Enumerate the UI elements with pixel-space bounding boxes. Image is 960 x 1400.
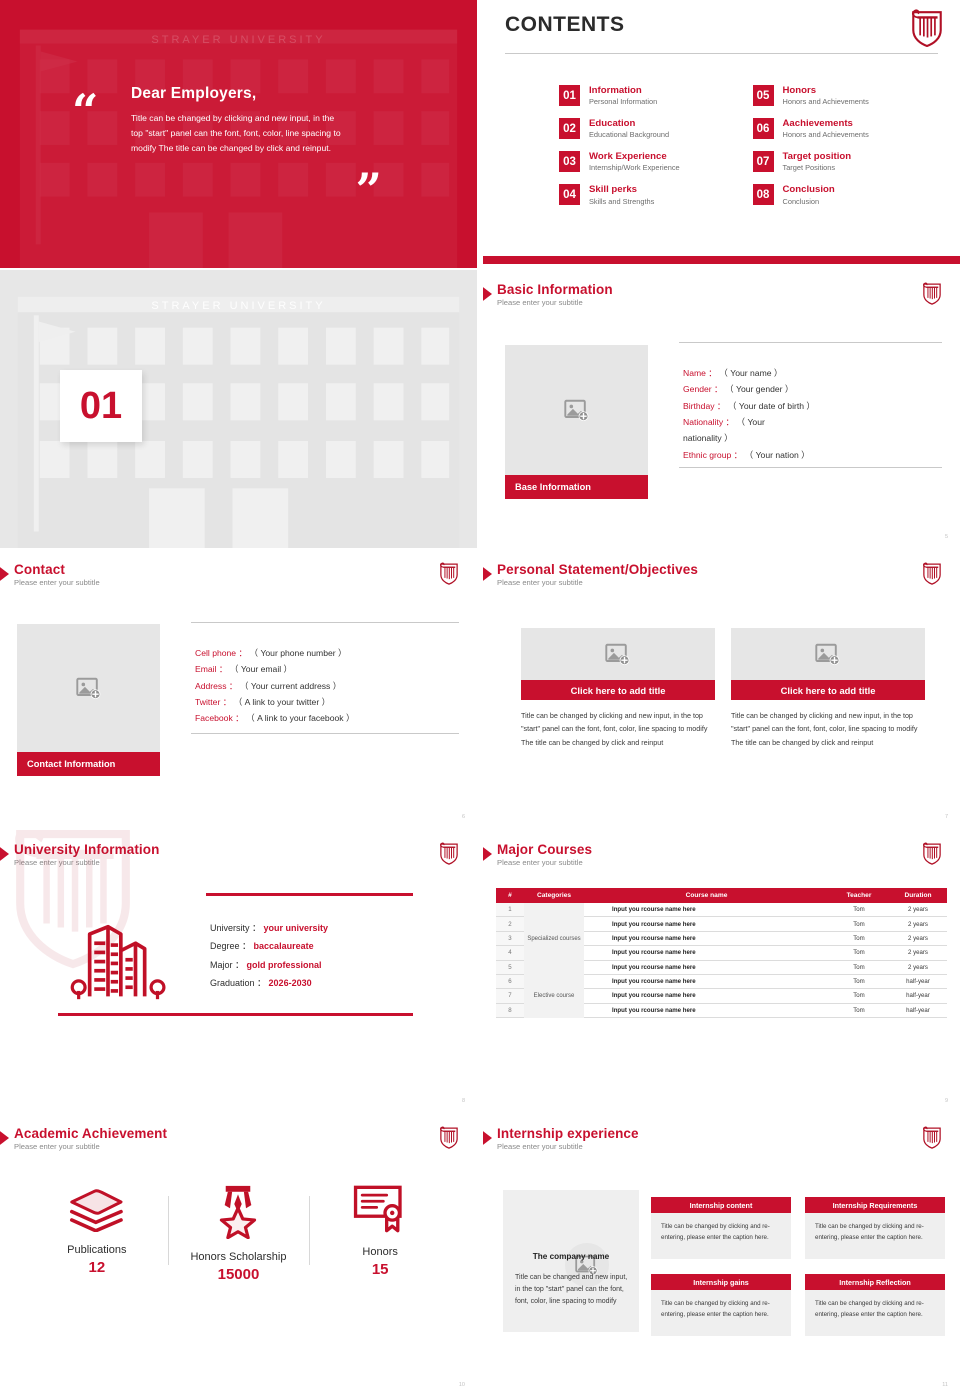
toc-title: Aachievements — [783, 118, 869, 129]
cover-title: Dear Employers, — [131, 85, 346, 103]
photo-placeholder[interactable] — [521, 628, 715, 680]
row-value: 2026-2030 — [269, 978, 312, 988]
row-key: Major ： — [210, 960, 244, 970]
page-number: 6 — [462, 814, 465, 820]
header-arrow-icon — [483, 1128, 493, 1148]
cell-index: 5 — [496, 960, 524, 974]
card-body: Title can be changed by clicking and re-… — [805, 1213, 945, 1259]
header-arrow-icon — [483, 284, 493, 304]
image-placeholder-icon — [815, 643, 841, 666]
toc-item-07[interactable]: 07 Target position Target Positions — [753, 151, 921, 173]
toc-item-03[interactable]: 03 Work Experience Internship/Work Exper… — [559, 151, 727, 173]
cover-body: Title can be changed by clicking and new… — [131, 111, 346, 155]
info-row: Twitter ： （ A link to your twitter ） — [195, 694, 459, 710]
statement-card[interactable]: Click here to add title Title can be cha… — [731, 628, 925, 749]
table-row[interactable]: 1 Specialized courses Input you rcourse … — [496, 903, 947, 917]
info-row: Facebook ： （ A link to your facebook ） — [195, 710, 459, 726]
toc-item-01[interactable]: 01 Information Personal Information — [559, 85, 727, 107]
cell-duration: 2 years — [889, 931, 947, 945]
card-header: Internship Requirements — [805, 1197, 945, 1213]
company-card[interactable]: The company name Title can be changed an… — [503, 1190, 639, 1332]
info-value: （ Your date of birth ） — [728, 401, 815, 411]
shield-pillar-logo-icon — [922, 1126, 942, 1149]
cover-text-block: Dear Employers, Title can be changed by … — [131, 85, 346, 155]
toc-subtitle: Target Positions — [783, 163, 852, 173]
shield-pillar-logo-icon — [922, 842, 942, 865]
cell-teacher: Tom — [829, 946, 889, 960]
shield-pillar-logo-icon — [439, 562, 459, 585]
cell-category: Elective course — [524, 974, 584, 1017]
cell-teacher: Tom — [829, 903, 889, 917]
card-body: Title can be changed by clicking and re-… — [805, 1290, 945, 1336]
info-key: Nationality ： — [683, 417, 734, 427]
card-body: Title can be changed by clicking and re-… — [651, 1290, 791, 1336]
stat-value: 15000 — [218, 1266, 260, 1283]
university-row: University ： your university — [210, 919, 328, 937]
info-row: Address ： （ Your current address ） — [195, 678, 459, 694]
section-number: 01 — [60, 370, 142, 442]
page-subtitle: Please enter your subtitle — [14, 578, 100, 587]
toc-subtitle: Honors and Achievements — [783, 97, 869, 107]
info-key: Gender ： — [683, 384, 723, 394]
cell-course-name: Input you rcourse name here — [584, 931, 829, 945]
courses-table[interactable]: # Categories Course name Teacher Duratio… — [496, 888, 947, 1018]
photo-caption: Contact Information — [17, 752, 160, 776]
cell-duration: 2 years — [889, 960, 947, 974]
info-value: （ A link to your twitter ） — [234, 697, 330, 707]
page-subtitle: Please enter your subtitle — [497, 578, 698, 587]
info-key: Facebook ： — [195, 713, 244, 723]
page-title: Internship experience — [497, 1126, 639, 1141]
shield-pillar-logo-icon — [922, 562, 942, 585]
page-title: Basic Information — [497, 282, 613, 297]
panel-bottom-rule — [58, 1013, 413, 1016]
internship-card-gains[interactable]: Internship gains Title can be changed by… — [651, 1274, 791, 1336]
stat-value: 15 — [372, 1261, 389, 1278]
col-index: # — [496, 888, 524, 903]
toc-number: 01 — [559, 85, 580, 106]
row-value: baccalaureate — [254, 941, 314, 951]
quote-open-icon: “ — [72, 95, 98, 127]
slide-header: Contact Please enter your subtitle — [0, 562, 100, 587]
stat-honors-scholarship[interactable]: Honors Scholarship 15000 — [168, 1184, 310, 1283]
slide-section-01[interactable]: STRAYER UNIVERSITY 01 Personal Informati… — [0, 270, 477, 548]
toc-item-06[interactable]: 06 Aachievements Honors and Achievements — [753, 118, 921, 140]
page-subtitle: Please enter your subtitle — [497, 858, 592, 867]
page-subtitle: Please enter your subtitle — [497, 298, 613, 307]
photo-placeholder[interactable] — [505, 345, 648, 475]
table-header-row: # Categories Course name Teacher Duratio… — [496, 888, 947, 903]
toc-title: Conclusion — [783, 184, 835, 195]
info-row: Cell phone ： （ Your phone number ） — [195, 645, 459, 661]
add-title-button[interactable]: Click here to add title — [731, 680, 925, 700]
row-key: Degree ： — [210, 941, 251, 951]
info-row: Birthday ： （ Your date of birth ） — [683, 398, 942, 414]
table-row[interactable]: 6 Elective course Input you rcourse name… — [496, 974, 947, 988]
info-value: （ A link to your facebook ） — [246, 713, 354, 723]
cell-index: 6 — [496, 974, 524, 988]
slide-internship-experience[interactable]: Internship experience Please enter your … — [483, 1114, 960, 1396]
toc-item-05[interactable]: 05 Honors Honors and Achievements — [753, 85, 921, 107]
internship-card-requirements[interactable]: Internship Requirements Title can be cha… — [805, 1197, 945, 1259]
toc-number: 03 — [559, 151, 580, 172]
toc-title: Honors — [783, 85, 869, 96]
info-key: Ethnic group ： — [683, 450, 742, 460]
toc-subtitle: Internship/Work Experience — [589, 163, 680, 173]
header-arrow-icon — [0, 1128, 10, 1148]
statement-body: Title can be changed by clicking and new… — [731, 709, 925, 749]
cell-course-name: Input you rcourse name here — [584, 960, 829, 974]
certificate-icon — [352, 1184, 408, 1234]
col-teacher: Teacher — [829, 888, 889, 903]
col-duration: Duration — [889, 888, 947, 903]
info-row: Nationality ： （ Your nationality ） — [683, 414, 791, 447]
slide-academic-achievement[interactable]: Academic Achievement Please enter your s… — [0, 1114, 477, 1396]
statement-body: Title can be changed by clicking and new… — [521, 709, 715, 749]
slide-contents[interactable]: CONTENTS 01 Information Personal Informa… — [483, 0, 960, 268]
info-row: Gender ： （ Your gender ） — [683, 381, 942, 397]
cover-watermark-text: STRAYER UNIVERSITY — [0, 34, 477, 46]
slide-deck: STRAYER UNIVERSITY “ Dear Employers, Tit… — [0, 0, 960, 1400]
cell-index: 7 — [496, 989, 524, 1003]
cell-index: 8 — [496, 1003, 524, 1017]
cell-index: 1 — [496, 903, 524, 917]
info-value: （ Your phone number ） — [249, 648, 346, 658]
info-value: （ Your current address ） — [240, 681, 341, 691]
cell-course-name: Input you rcourse name here — [584, 989, 829, 1003]
page-number: 5 — [945, 534, 948, 540]
stat-honors[interactable]: Honors 15 — [309, 1184, 451, 1283]
toc-subtitle: Honors and Achievements — [783, 130, 869, 140]
image-placeholder-icon — [605, 643, 631, 666]
cell-course-name: Input you rcourse name here — [584, 974, 829, 988]
medal-star-icon — [214, 1184, 262, 1239]
slide-major-courses[interactable]: Major Courses Please enter your subtitle… — [483, 830, 960, 1112]
slide-contact[interactable]: Contact Please enter your subtitle Conta… — [0, 550, 477, 828]
internship-card-content[interactable]: Internship content Title can be changed … — [651, 1197, 791, 1259]
cell-teacher: Tom — [829, 960, 889, 974]
cell-teacher: Tom — [829, 974, 889, 988]
university-row: Degree ： baccalaureate — [210, 937, 328, 955]
toc-item-02[interactable]: 02 Education Educational Background — [559, 118, 727, 140]
cell-duration: half-year — [889, 989, 947, 1003]
cell-duration: 2 years — [889, 946, 947, 960]
list-bottom-rule — [191, 733, 459, 734]
photo-placeholder[interactable] — [17, 624, 160, 752]
info-value: （ Your name ） — [719, 368, 782, 378]
card-header: Internship content — [651, 1197, 791, 1213]
cell-course-name: Input you rcourse name here — [584, 917, 829, 931]
books-stack-icon — [67, 1184, 127, 1232]
cell-course-name: Input you rcourse name here — [584, 946, 829, 960]
university-rows: University ： your university Degree ： ba… — [210, 919, 328, 993]
cell-category: Specialized courses — [524, 903, 584, 974]
col-categories: Categories — [524, 888, 584, 903]
slide-header: Basic Information Please enter your subt… — [483, 282, 613, 307]
toc-title: Skill perks — [589, 184, 654, 195]
toc-subtitle: Educational Background — [589, 130, 669, 140]
toc-title: Work Experience — [589, 151, 680, 162]
cell-teacher: Tom — [829, 917, 889, 931]
image-placeholder-icon — [76, 677, 102, 700]
slide-basic-information[interactable]: Basic Information Please enter your subt… — [483, 270, 960, 548]
image-placeholder-icon — [564, 399, 590, 422]
row-value: your university — [264, 923, 329, 933]
slide-cover[interactable]: STRAYER UNIVERSITY “ Dear Employers, Tit… — [0, 0, 477, 268]
cell-duration: 2 years — [889, 917, 947, 931]
shield-pillar-logo-icon — [439, 1126, 459, 1149]
toc-subtitle: Conclusion — [783, 197, 835, 207]
info-key: Cell phone ： — [195, 648, 247, 658]
list-bottom-rule — [679, 467, 942, 468]
slide-header: Personal Statement/Objectives Please ent… — [483, 562, 698, 587]
info-row: Name ： （ Your name ） — [683, 365, 942, 381]
slide-header: Internship experience Please enter your … — [483, 1126, 639, 1151]
university-panel: University ： your university Degree ： ba… — [58, 893, 413, 1016]
cell-duration: half-year — [889, 974, 947, 988]
toc-number: 05 — [753, 85, 774, 106]
basic-info-list: Name ： （ Your name ） Gender ： （ Your gen… — [679, 342, 942, 468]
page-subtitle: Please enter your subtitle — [497, 1142, 639, 1151]
achievement-stats: Publications 12 Honors Scholarship 15000… — [26, 1184, 451, 1283]
contents-divider — [505, 53, 938, 54]
cell-index: 2 — [496, 917, 524, 931]
header-arrow-icon — [483, 844, 493, 864]
toc-subtitle: Personal Information — [589, 97, 657, 107]
col-course-name: Course name — [584, 888, 829, 903]
stat-label: Honors Scholarship — [190, 1251, 286, 1263]
slide-university-information[interactable]: University Information Please enter your… — [0, 830, 477, 1112]
row-key: Graduation ： — [210, 978, 266, 988]
page-number: 7 — [945, 814, 948, 820]
page-number: 11 — [942, 1382, 948, 1388]
stat-label: Publications — [67, 1244, 126, 1256]
card-header: Internship gains — [651, 1274, 791, 1290]
slide-personal-statement[interactable]: Personal Statement/Objectives Please ent… — [483, 550, 960, 828]
info-value: （ Your nation ） — [745, 450, 810, 460]
info-key: Address ： — [195, 681, 238, 691]
row-key: University ： — [210, 923, 261, 933]
section-watermark-text: STRAYER UNIVERSITY — [0, 300, 477, 312]
header-arrow-icon — [0, 564, 10, 584]
statement-card[interactable]: Click here to add title Title can be cha… — [521, 628, 715, 749]
cell-course-name: Input you rcourse name here — [584, 903, 829, 917]
toc-number: 04 — [559, 184, 580, 205]
slide-header: Major Courses Please enter your subtitle — [483, 842, 592, 867]
toc-item-08[interactable]: 08 Conclusion Conclusion — [753, 184, 921, 206]
info-key: Twitter ： — [195, 697, 231, 707]
photo-caption: Base Information — [505, 475, 648, 499]
toc-subtitle: Skills and Strengths — [589, 197, 654, 207]
slide-header: Academic Achievement Please enter your s… — [0, 1126, 167, 1151]
card-header: Internship Reflection — [805, 1274, 945, 1290]
toc-number: 02 — [559, 118, 580, 139]
row-value: gold professional — [247, 960, 322, 970]
page-number: 8 — [462, 1098, 465, 1104]
stat-value: 12 — [88, 1259, 105, 1276]
info-row: Ethnic group ： （ Your nation ） — [683, 447, 942, 463]
shield-pillar-logo-icon — [922, 282, 942, 305]
toc-title: Information — [589, 85, 657, 96]
quote-close-icon: ” — [356, 174, 382, 206]
info-row: Email ： （ Your email ） — [195, 661, 459, 677]
cell-index: 4 — [496, 946, 524, 960]
stat-publications[interactable]: Publications 12 — [26, 1184, 168, 1283]
cell-index: 3 — [496, 931, 524, 945]
page-number: 9 — [945, 1098, 948, 1104]
page-subtitle: Please enter your subtitle — [14, 1142, 167, 1151]
cell-course-name: Input you rcourse name here — [584, 1003, 829, 1017]
toc-number: 07 — [753, 151, 774, 172]
cell-teacher: Tom — [829, 931, 889, 945]
add-title-button[interactable]: Click here to add title — [521, 680, 715, 700]
contact-info-list: Cell phone ： （ Your phone number ） Email… — [191, 622, 459, 734]
info-key: Birthday ： — [683, 401, 726, 411]
toc-title: Education — [589, 118, 669, 129]
info-key: Name ： — [683, 368, 717, 378]
page-title: Contact — [14, 562, 100, 577]
page-number: 10 — [459, 1382, 465, 1388]
page-title: Academic Achievement — [14, 1126, 167, 1141]
company-name: The company name — [503, 1252, 639, 1261]
internship-card-reflection[interactable]: Internship Reflection Title can be chang… — [805, 1274, 945, 1336]
stat-label: Honors — [362, 1246, 397, 1258]
page-title: Personal Statement/Objectives — [497, 562, 698, 577]
university-row: Graduation ： 2026-2030 — [210, 974, 328, 992]
contents-list: 01 Information Personal Information 05 H… — [559, 85, 920, 206]
panel-top-rule — [206, 893, 413, 896]
university-row: Major ： gold professional — [210, 956, 328, 974]
page-title: Major Courses — [497, 842, 592, 857]
toc-item-04[interactable]: 04 Skill perks Skills and Strengths — [559, 184, 727, 206]
cell-teacher: Tom — [829, 989, 889, 1003]
photo-placeholder[interactable] — [731, 628, 925, 680]
cell-duration: half-year — [889, 1003, 947, 1017]
company-description: Title can be changed and new input, in t… — [515, 1272, 629, 1308]
info-value: （ Your email ） — [230, 664, 292, 674]
header-arrow-icon — [483, 564, 493, 584]
buildings-icon — [64, 905, 174, 1009]
toc-number: 06 — [753, 118, 774, 139]
shield-pillar-logo-icon — [910, 9, 944, 47]
info-value: （ Your gender ） — [725, 384, 793, 394]
contents-title: CONTENTS — [505, 13, 625, 37]
toc-title: Target position — [783, 151, 852, 162]
shield-pillar-logo-icon — [439, 842, 459, 865]
toc-number: 08 — [753, 184, 774, 205]
info-key: Email ： — [195, 664, 227, 674]
contents-accent-bar — [483, 256, 960, 264]
cell-teacher: Tom — [829, 1003, 889, 1017]
card-body: Title can be changed by clicking and re-… — [651, 1213, 791, 1259]
cell-duration: 2 years — [889, 903, 947, 917]
